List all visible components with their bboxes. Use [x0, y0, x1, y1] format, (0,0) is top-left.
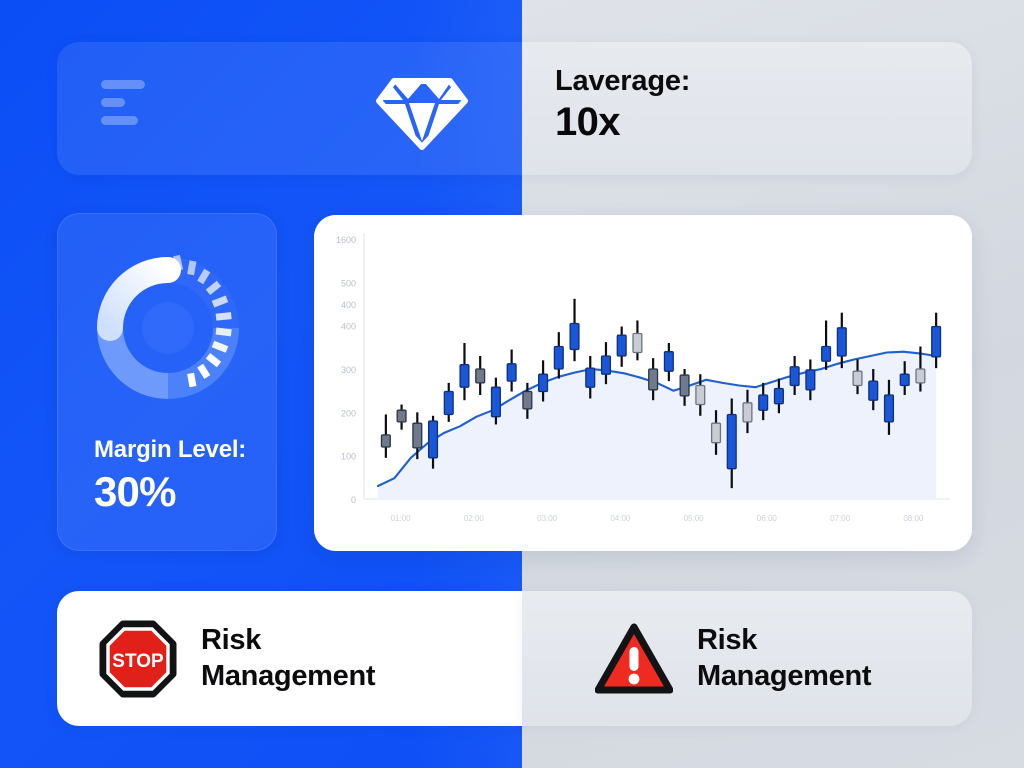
svg-text:05:00: 05:00 — [684, 514, 705, 523]
donut-gauge — [80, 240, 256, 416]
svg-text:06:00: 06:00 — [757, 514, 778, 523]
svg-text:500: 500 — [341, 278, 356, 288]
risk-management-label-left: Risk Management — [201, 623, 375, 694]
svg-text:01:00: 01:00 — [391, 514, 412, 523]
margin-level-label: Margin Level: — [94, 436, 246, 465]
menu-icon-bar-2 — [101, 98, 125, 107]
svg-text:02:00: 02:00 — [464, 514, 485, 523]
svg-text:200: 200 — [341, 408, 356, 418]
price-chart-card[interactable]: 1600500400400300200100001:0002:0003:0004… — [314, 215, 972, 551]
menu-icon-bar-1 — [101, 80, 145, 89]
leverage-value: 10x — [555, 100, 690, 146]
svg-text:07:00: 07:00 — [830, 514, 851, 523]
stop-sign-icon: STOP — [99, 620, 177, 698]
risk-management-label-right: Risk Management — [697, 623, 871, 694]
margin-text-block: Margin Level: 30% — [94, 436, 246, 515]
svg-text:1600: 1600 — [336, 235, 356, 245]
svg-text:03:00: 03:00 — [537, 514, 558, 523]
leverage-label: Laverage: — [555, 64, 690, 98]
diamond-icon — [367, 67, 477, 152]
margin-level-card[interactable]: Margin Level: 30% — [57, 213, 277, 551]
svg-text:400: 400 — [341, 300, 356, 310]
leverage-text-block: Laverage: 10x — [555, 64, 690, 146]
warning-triangle-icon — [595, 620, 673, 698]
dashboard-root: Laverage: 10x — [0, 0, 1024, 768]
svg-text:100: 100 — [341, 452, 356, 462]
risk-management-card-left[interactable]: STOP Risk Management — [57, 591, 522, 726]
leverage-card[interactable]: Laverage: 10x — [57, 42, 972, 175]
svg-text:08:00: 08:00 — [903, 514, 924, 523]
svg-text:400: 400 — [341, 322, 356, 332]
svg-text:300: 300 — [341, 365, 356, 375]
margin-level-value: 30% — [94, 468, 246, 515]
menu-icon[interactable] — [101, 80, 161, 132]
risk-management-card-right[interactable]: Risk Management — [522, 591, 972, 726]
menu-icon-bar-3 — [101, 116, 138, 125]
svg-text:04:00: 04:00 — [610, 514, 631, 523]
svg-text:0: 0 — [351, 495, 356, 505]
svg-text:STOP: STOP — [112, 651, 164, 672]
candlestick-chart[interactable]: 1600500400400300200100001:0002:0003:0004… — [314, 215, 972, 551]
